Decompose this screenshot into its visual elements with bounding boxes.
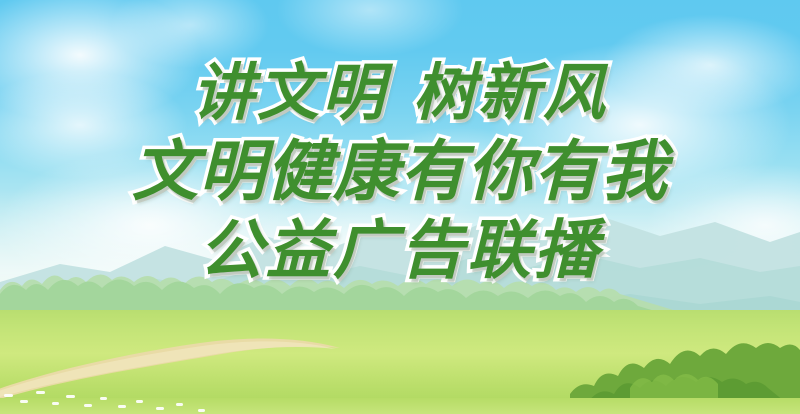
headline-line-1-right: 树新风 — [413, 56, 608, 129]
headline-line-1-left: 讲文明 — [192, 56, 387, 129]
headline-block: 讲文明树新风 文明健康有你有我 公益广告联播 — [0, 54, 800, 290]
headline-line-1: 讲文明树新风 — [0, 54, 800, 132]
headline-line-2: 文明健康有你有我 — [0, 132, 800, 212]
headline-line-3: 公益广告联播 — [0, 212, 800, 290]
wildflowers — [0, 374, 260, 414]
public-service-ad-poster: 讲文明树新风 文明健康有你有我 公益广告联播 — [0, 0, 800, 414]
